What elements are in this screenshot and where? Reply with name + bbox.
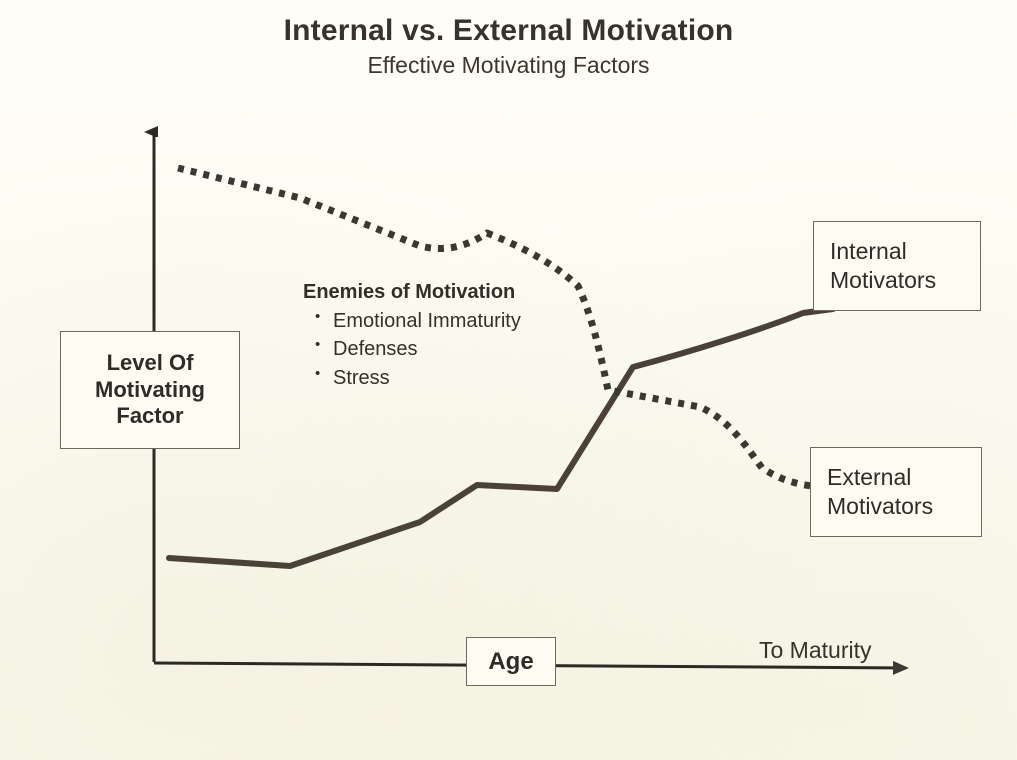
legend-internal-line-1: Internal [830, 237, 980, 266]
y-axis-label-box: Level Of Motivating Factor [60, 331, 240, 449]
list-item: Emotional Immaturity [315, 307, 563, 335]
legend-internal-line-2: Motivators [830, 266, 980, 295]
annotation-heading: Enemies of Motivation [303, 280, 563, 305]
x-axis-end-label: To Maturity [759, 637, 871, 664]
legend-internal-motivators-box: Internal Motivators [813, 221, 981, 311]
y-axis-label-line-2: Motivating [95, 377, 205, 404]
legend-external-motivators-box: External Motivators [810, 447, 982, 537]
legend-external-line-2: Motivators [827, 492, 981, 521]
x-axis-label-text: Age [488, 648, 533, 676]
list-item: Defenses [315, 335, 563, 363]
y-axis-label-line-1: Level Of [107, 350, 194, 377]
enemies-of-motivation-annotation: Enemies of Motivation Emotional Immaturi… [303, 280, 563, 392]
x-axis-label-box: Age [466, 637, 556, 686]
annotation-bullet-list: Emotional Immaturity Defenses Stress [303, 307, 563, 392]
list-item: Stress [315, 364, 563, 392]
legend-external-line-1: External [827, 463, 981, 492]
y-axis-label-line-3: Factor [116, 403, 183, 430]
chart-page: Internal vs. External Motivation Effecti… [0, 0, 1017, 760]
